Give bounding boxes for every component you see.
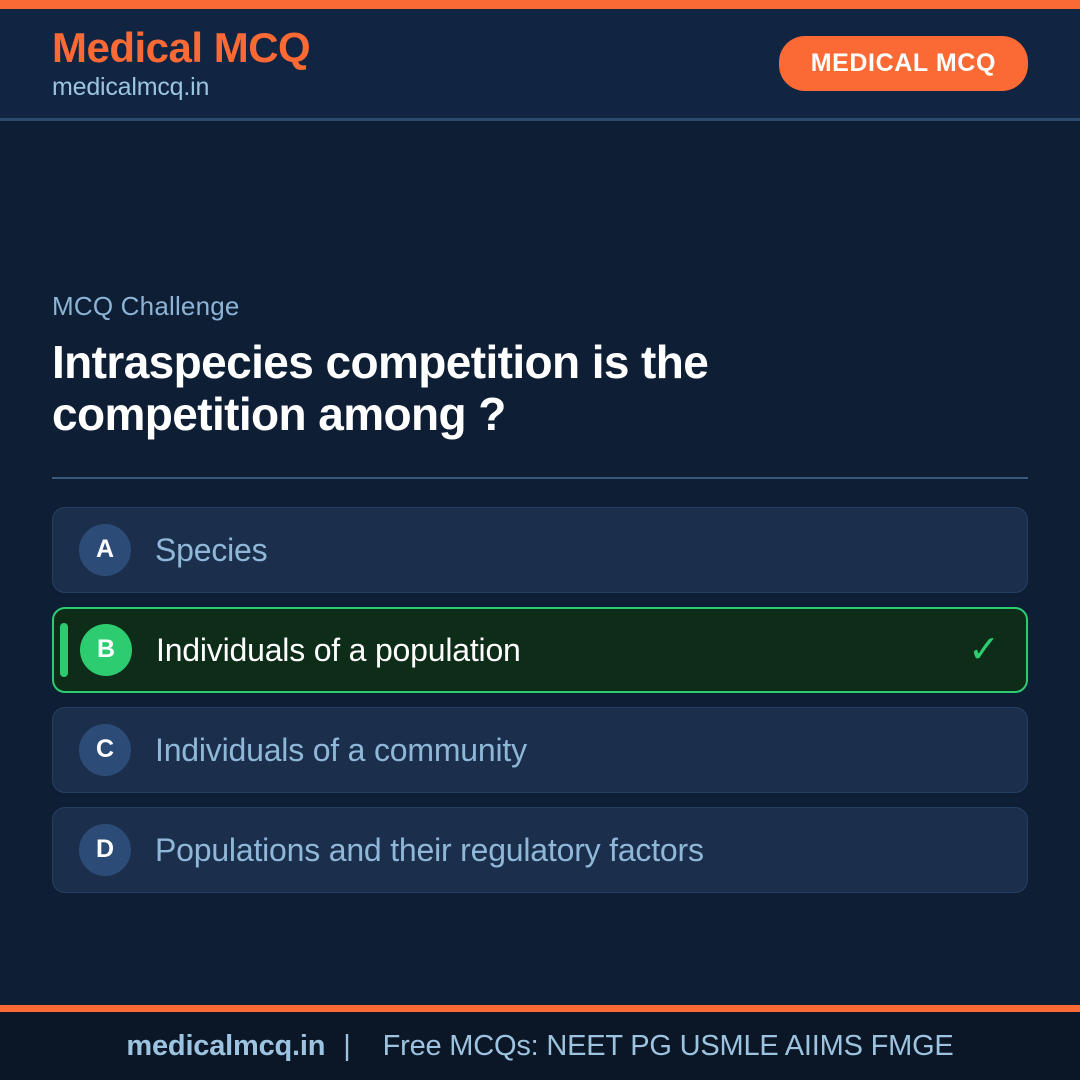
option-text: Populations and their regulatory factors: [155, 834, 704, 866]
options-list: A Species ✓ B Individuals of a populatio…: [52, 507, 1028, 893]
correct-accent-bar: [60, 623, 68, 677]
footer-wrapper: medicalmcq.in | Free MCQs: NEET PG USMLE…: [0, 1005, 1080, 1080]
footer-accent-bar: [0, 1005, 1080, 1012]
brand-block: Medical MCQ medicalmcq.in: [52, 27, 310, 100]
option-c[interactable]: C Individuals of a community ✓: [52, 707, 1028, 793]
option-text: Species: [155, 534, 267, 566]
question-divider: [52, 477, 1028, 479]
header-badge[interactable]: MEDICAL MCQ: [779, 36, 1028, 91]
option-b[interactable]: B Individuals of a population ✓: [52, 607, 1028, 693]
footer-separator: |: [325, 1030, 368, 1063]
option-a[interactable]: A Species ✓: [52, 507, 1028, 593]
question-text: Intraspecies competition is the competit…: [52, 336, 972, 441]
footer-tagline: Free MCQs: NEET PG USMLE AIIMS FMGE: [369, 1030, 954, 1063]
option-text: Individuals of a community: [155, 734, 527, 766]
top-accent-bar: [0, 0, 1080, 9]
option-letter-badge: D: [79, 824, 131, 876]
option-letter-badge: C: [79, 724, 131, 776]
footer-bar: medicalmcq.in | Free MCQs: NEET PG USMLE…: [0, 1012, 1080, 1080]
top-spacer: [52, 121, 1028, 291]
option-text: Individuals of a population: [156, 634, 521, 666]
header-bar: Medical MCQ medicalmcq.in MEDICAL MCQ: [0, 9, 1080, 121]
eyebrow-label: MCQ Challenge: [52, 291, 1028, 322]
brand-subtitle: medicalmcq.in: [52, 75, 310, 100]
content-area: MCQ Challenge Intraspecies competition i…: [0, 121, 1080, 1005]
mcq-card: Medical MCQ medicalmcq.in MEDICAL MCQ MC…: [0, 0, 1080, 1080]
check-icon: ✓: [968, 631, 1000, 669]
option-letter-badge: B: [80, 624, 132, 676]
footer-site-link[interactable]: medicalmcq.in: [126, 1030, 325, 1063]
option-letter-badge: A: [79, 524, 131, 576]
option-d[interactable]: D Populations and their regulatory facto…: [52, 807, 1028, 893]
brand-title: Medical MCQ: [52, 27, 310, 69]
